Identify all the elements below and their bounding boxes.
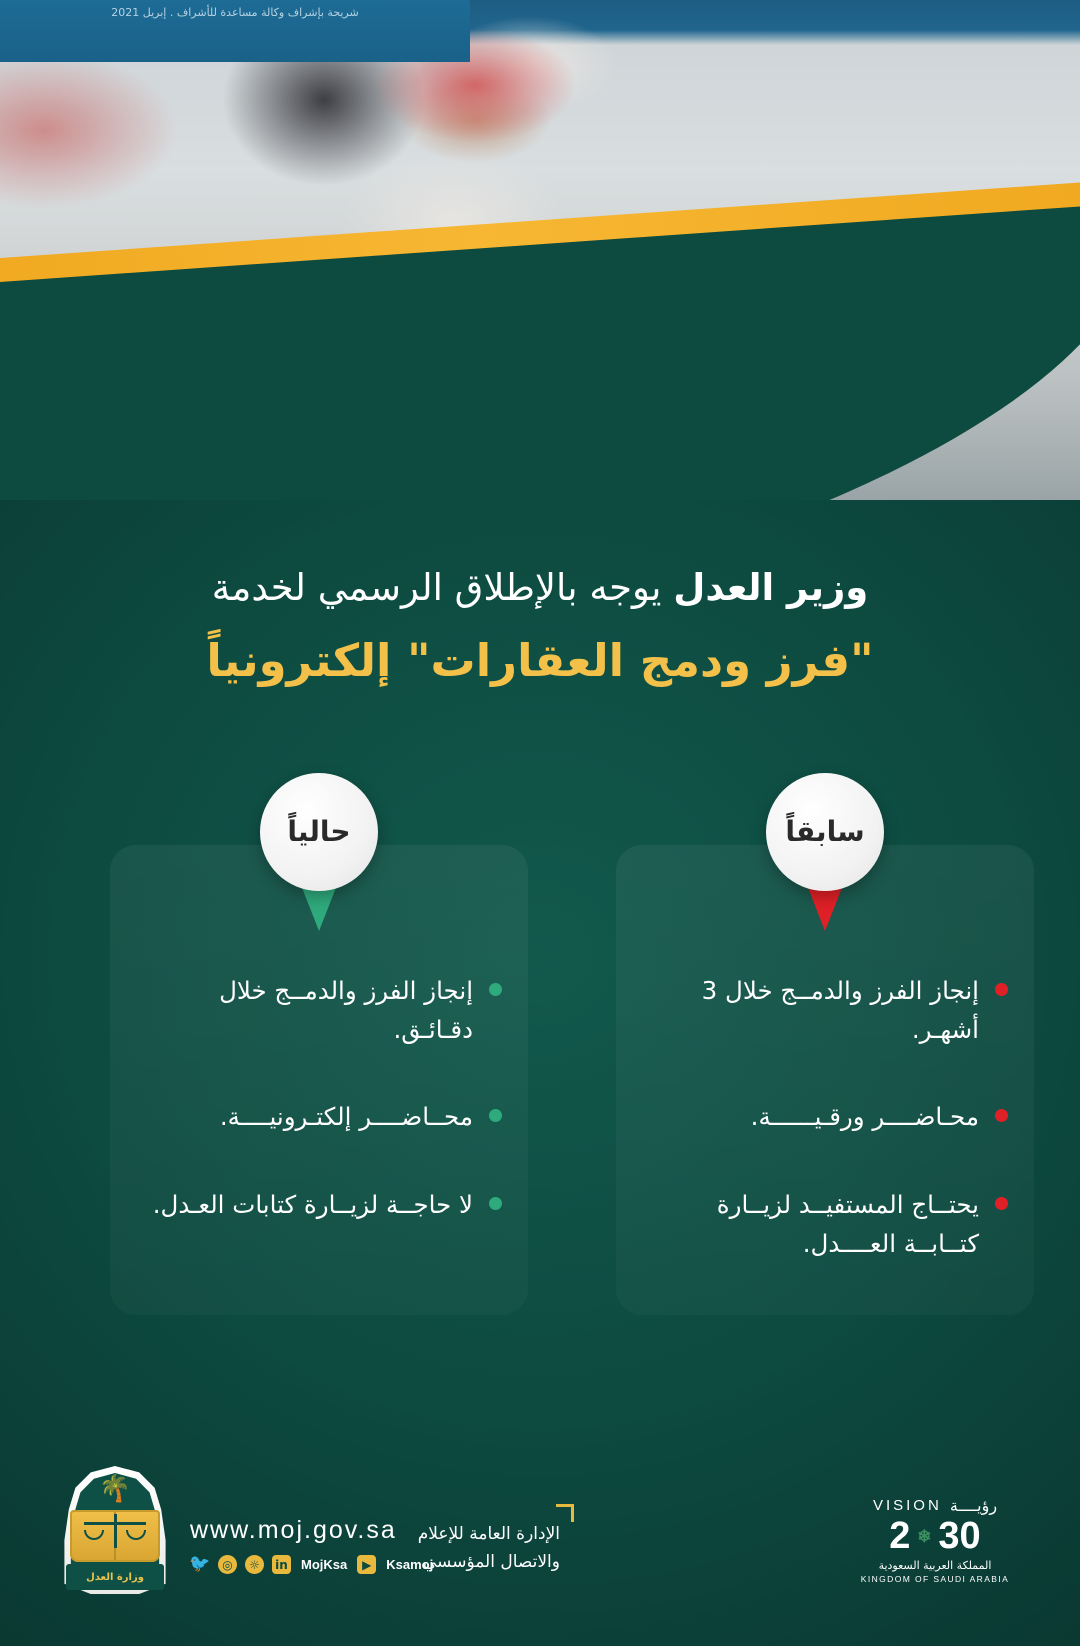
footer: 🌴 وزارة العدل www.moj.gov.sa 🐦 ◎ ☼ in Mo… bbox=[0, 1426, 1080, 1646]
department-block: الإدارة العامة للإعلام والاتصال المؤسسي bbox=[380, 1520, 560, 1576]
bullet-dot-icon bbox=[995, 983, 1008, 996]
bullet-list-previous: إنجاز الفرز والدمــج خلال 3 أشهـر. محـاض… bbox=[642, 971, 1008, 1311]
bullet-text: لا حاجــة لزيــارة كتابات العـدل. bbox=[136, 1185, 473, 1224]
vision-word-en: VISION bbox=[873, 1497, 942, 1514]
vision-2030-logo: VISION رؤيــــة 2 ❄ 30 المملكة العربية ا… bbox=[860, 1496, 1010, 1584]
headline-rest: يوجه بالإطلاق الرسمي لخدمة bbox=[212, 566, 674, 609]
saudi-emblem-icon: ❄ bbox=[911, 1523, 937, 1549]
palm-swords-icon: 🌴 bbox=[99, 1476, 131, 1502]
presentation-screen-text: شريحة بإشراف وكالة مساعدة للأشراف . إبري… bbox=[0, 6, 470, 19]
badge-label-previous: سابقاً bbox=[785, 818, 864, 846]
department-line-2: والاتصال المؤسسي bbox=[380, 1548, 560, 1576]
bullet-dot-icon bbox=[489, 1197, 502, 1210]
service-name-subtitle: "فرز ودمج العقارات" إلكترونياً bbox=[0, 628, 1080, 693]
pin-circle: سابقاً bbox=[766, 773, 884, 891]
badge-previous: سابقاً bbox=[755, 773, 895, 931]
youtube-icon[interactable]: ▶ bbox=[357, 1555, 376, 1574]
vision-word-ar: رؤيــــة bbox=[950, 1496, 997, 1515]
vision-year: 2 ❄ 30 bbox=[860, 1517, 1010, 1555]
list-item: محـاضــــر ورقـيــــــة. bbox=[642, 1097, 1008, 1136]
badge-current: حالياً bbox=[249, 773, 389, 931]
comparison-cards: سابقاً إنجاز الفرز والدمــج خلال 3 أشهـر… bbox=[0, 845, 1080, 1315]
list-item: لا حاجــة لزيــارة كتابات العـدل. bbox=[136, 1185, 502, 1224]
hero-photo-area: شريحة بإشراف وكالة مساعدة للأشراف . إبري… bbox=[0, 0, 1080, 500]
pin-circle: حالياً bbox=[260, 773, 378, 891]
bullet-dot-icon bbox=[995, 1197, 1008, 1210]
linkedin-icon[interactable]: in bbox=[272, 1555, 291, 1574]
vision-wordmark: VISION رؤيــــة bbox=[860, 1496, 1010, 1515]
card-current: حالياً إنجاز الفرز والدمــج خلال دقـائـق… bbox=[110, 845, 528, 1315]
corner-bracket-icon bbox=[556, 1504, 574, 1522]
poster-root: شريحة بإشراف وكالة مساعدة للأشراف . إبري… bbox=[0, 0, 1080, 1646]
bullet-text: محـاضــــر ورقـيــــــة. bbox=[642, 1097, 979, 1136]
bullet-dot-icon bbox=[489, 1109, 502, 1122]
headline-block: وزير العدل يوجه بالإطلاق الرسمي لخدمة "ف… bbox=[0, 560, 1080, 693]
vision-num-left: 2 bbox=[889, 1517, 910, 1555]
bullet-text: إنجاز الفرز والدمــج خلال 3 أشهـر. bbox=[642, 971, 979, 1049]
bullet-dot-icon bbox=[995, 1109, 1008, 1122]
ministry-of-justice-logo-icon: 🌴 وزارة العدل bbox=[60, 1466, 170, 1594]
list-item: إنجاز الفرز والدمــج خلال دقـائـق. bbox=[136, 971, 502, 1049]
bullet-text: إنجاز الفرز والدمــج خلال دقـائـق. bbox=[136, 971, 473, 1049]
kingdom-name-en: KINGDOM OF SAUDI ARABIA bbox=[860, 1574, 1010, 1584]
scales-of-justice-icon bbox=[84, 1514, 146, 1556]
list-item: محــاضــــر إلكتـرونيــــة. bbox=[136, 1097, 502, 1136]
bullet-dot-icon bbox=[489, 983, 502, 996]
card-previous: سابقاً إنجاز الفرز والدمــج خلال 3 أشهـر… bbox=[616, 845, 1034, 1315]
logo-band-label: وزارة العدل bbox=[66, 1564, 164, 1590]
instagram-icon[interactable]: ◎ bbox=[218, 1555, 237, 1574]
kingdom-name-ar: المملكة العربية السعودية bbox=[860, 1559, 1010, 1572]
page-title: وزير العدل يوجه بالإطلاق الرسمي لخدمة bbox=[0, 560, 1080, 616]
social-handle-main[interactable]: MojKsa bbox=[301, 1557, 347, 1572]
bullet-text: محــاضــــر إلكتـرونيــــة. bbox=[136, 1097, 473, 1136]
snapchat-icon[interactable]: ☼ bbox=[245, 1555, 264, 1574]
vision-num-right: 30 bbox=[938, 1517, 980, 1555]
bullet-text: يحتــاج المستفيــد لزيــارة كتــابــة ال… bbox=[642, 1185, 979, 1263]
list-item: يحتــاج المستفيــد لزيــارة كتــابــة ال… bbox=[642, 1185, 1008, 1263]
badge-label-current: حالياً bbox=[287, 818, 350, 846]
list-item: إنجاز الفرز والدمــج خلال 3 أشهـر. bbox=[642, 971, 1008, 1049]
twitter-icon[interactable]: 🐦 bbox=[190, 1555, 210, 1574]
headline-bold: وزير العدل bbox=[673, 566, 868, 609]
bullet-list-current: إنجاز الفرز والدمــج خلال دقـائـق. محــا… bbox=[136, 971, 502, 1272]
department-line-1: الإدارة العامة للإعلام bbox=[380, 1520, 560, 1548]
